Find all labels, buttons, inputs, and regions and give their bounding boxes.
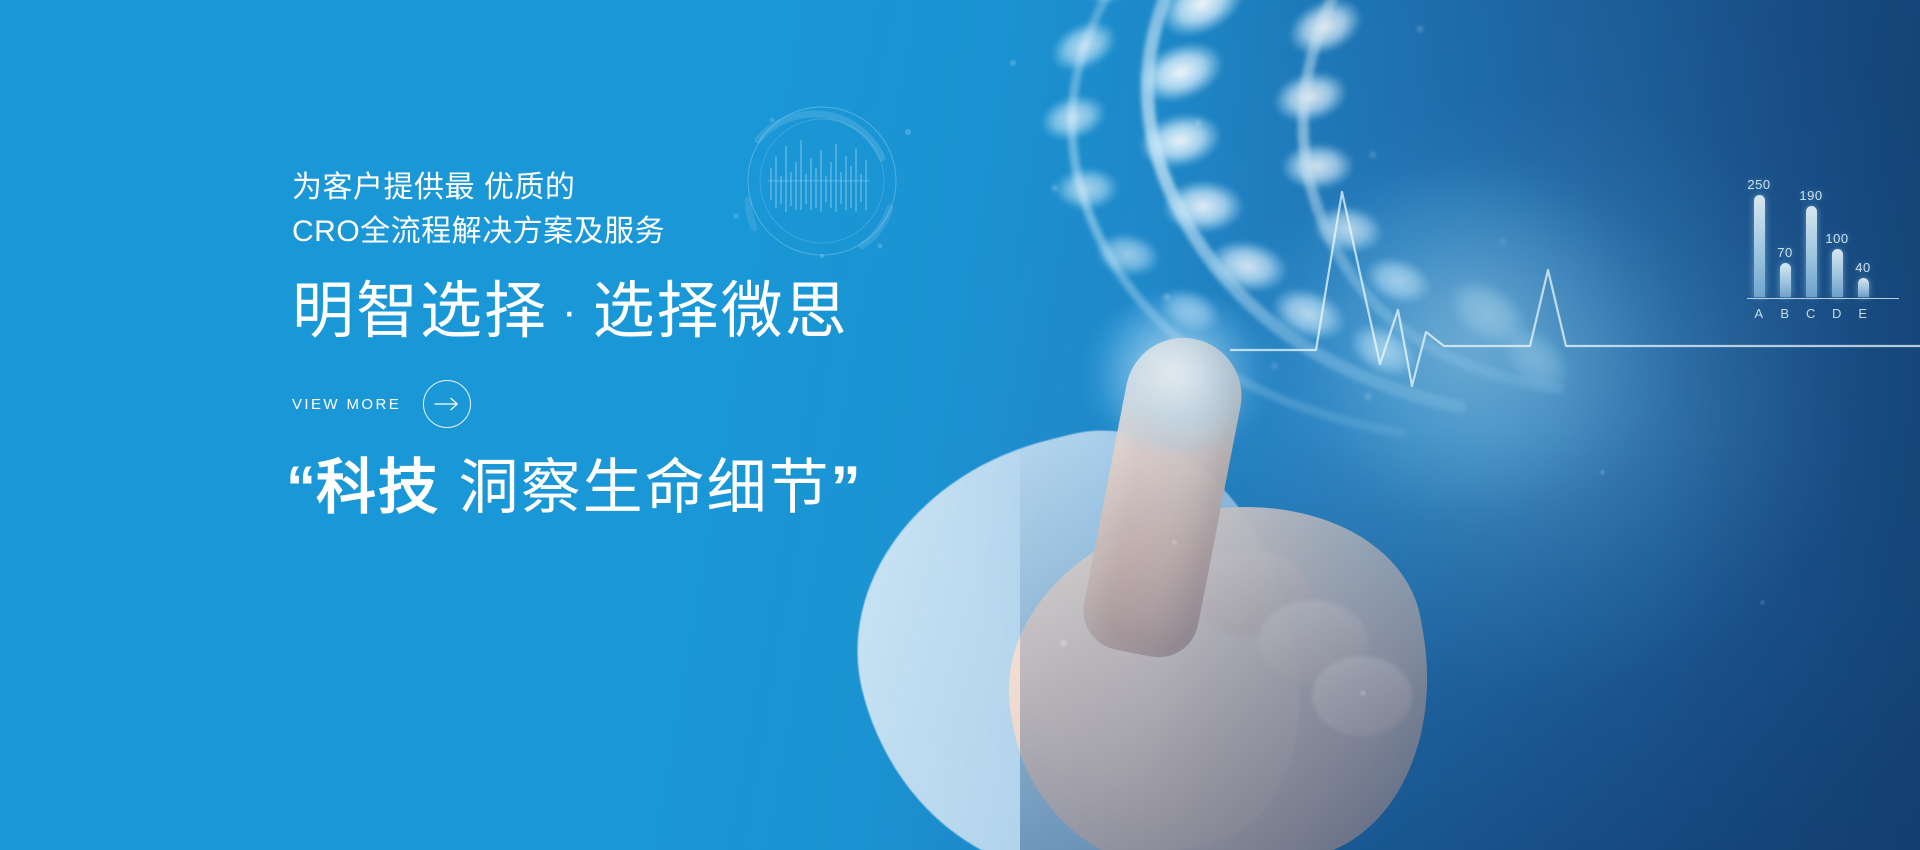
- quote-strong-text: 科技: [316, 454, 440, 521]
- headline-part-1: 明智选择: [292, 277, 548, 346]
- bar-value-label: 100: [1825, 231, 1848, 246]
- hero-subtitle: 为客户提供最 优质的 CRO全流程解决方案及服务: [292, 166, 665, 254]
- arrow-right-icon[interactable]: [423, 380, 471, 428]
- bar-chart-categories: A B C D E: [1753, 306, 1893, 321]
- bar-value-label: 70: [1777, 245, 1792, 260]
- category-label: B: [1779, 306, 1791, 321]
- bar-chart: 250 70 190 100 40 A B C: [1745, 150, 1905, 325]
- hero-headline: 明智选择·选择微思: [292, 275, 849, 349]
- bar-chart-axis: [1747, 298, 1899, 300]
- bar-c: [1806, 206, 1817, 297]
- subtitle-line-1: 为客户提供最 优质的: [292, 166, 665, 210]
- headline-part-2: 选择微思: [593, 277, 849, 346]
- bar-b: [1780, 263, 1791, 297]
- bar-d: [1832, 249, 1843, 297]
- quote-light-text: 洞察生命细节: [440, 454, 831, 521]
- particle-dot: [1060, 640, 1067, 647]
- bar-column: 100: [1831, 177, 1843, 297]
- category-label: D: [1831, 306, 1843, 321]
- bar-column: 190: [1805, 177, 1817, 297]
- category-label: A: [1753, 306, 1765, 321]
- view-more-button[interactable]: VIEW MORE: [292, 380, 471, 428]
- hero-quote: “科技 洞察生命细节”: [286, 448, 861, 528]
- subtitle-line-2: CRO全流程解决方案及服务: [292, 210, 665, 254]
- quote-open-mark: “: [286, 454, 316, 521]
- bar-column: 250: [1753, 177, 1765, 297]
- bar-value-label: 190: [1799, 188, 1822, 203]
- bar-column: 40: [1857, 177, 1869, 297]
- bar-column: 70: [1779, 177, 1791, 297]
- bar-value-label: 250: [1747, 177, 1770, 192]
- bar-e: [1858, 278, 1869, 297]
- particle-dot: [1172, 540, 1177, 545]
- particle-dot: [1360, 690, 1366, 696]
- particle-dot: [1760, 600, 1765, 605]
- category-label: E: [1857, 306, 1869, 321]
- quote-close-mark: ”: [831, 454, 861, 521]
- headline-separator: ·: [562, 287, 579, 336]
- bar-value-label: 40: [1855, 260, 1870, 275]
- particle-dot: [1600, 470, 1605, 475]
- view-more-label: VIEW MORE: [292, 396, 401, 413]
- bar-chart-plot: 250 70 190 100 40: [1753, 177, 1893, 297]
- background-bottom-shade: [1020, 430, 1920, 850]
- bar-a: [1754, 195, 1765, 297]
- hero-banner: 250 70 190 100 40 A B C: [0, 0, 1920, 850]
- category-label: C: [1805, 306, 1817, 321]
- hero-content: 为客户提供最 优质的 CRO全流程解决方案及服务 明智选择·选择微思 VIEW …: [292, 0, 1052, 850]
